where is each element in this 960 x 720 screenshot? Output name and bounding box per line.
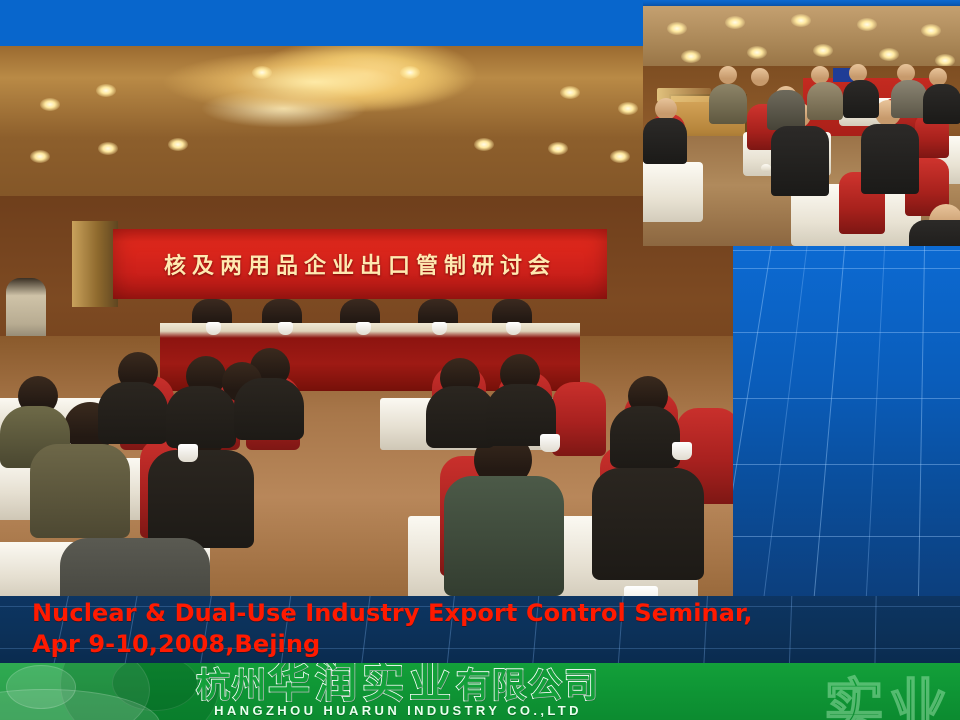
caption-text: Nuclear & Dual-Use Industry Export Contr…	[32, 598, 753, 660]
company-logo: 杭州华润实业有限公司 HANGZHOU HUARUN INDUSTRY CO.,…	[196, 665, 600, 719]
company-name-cn-main: 华润实业	[268, 663, 456, 707]
red-banner: 核及两用品企业出口管制研讨会	[113, 229, 607, 299]
inset-attendees-photo	[643, 6, 960, 246]
footer-logo-band: 实业 杭州华润实业有限公司 HANGZHOU HUARUN INDUSTRY C…	[0, 663, 960, 720]
company-name-cn: 杭州华润实业有限公司	[196, 665, 600, 704]
company-name-cn-city: 杭州	[196, 666, 268, 706]
caption-line-1: Nuclear & Dual-Use Industry Export Contr…	[32, 598, 753, 629]
company-name-en: HANGZHOU HUARUN INDUSTRY CO.,LTD	[196, 703, 600, 719]
footer-watermark: 实业	[824, 663, 952, 720]
banner-text: 核及两用品企业出口管制研讨会	[164, 248, 556, 280]
blue-globe-panel	[733, 246, 960, 596]
company-name-cn-suffix: 有限公司	[456, 666, 600, 706]
top-blue-bar	[0, 0, 643, 46]
caption-line-2: Apr 9-10,2008,Bejing	[32, 629, 753, 660]
door-frame	[72, 221, 118, 307]
main-conference-photo: 核及两用品企业出口管制研讨会	[0, 46, 733, 596]
slide-canvas: 核及两用品企业出口管制研讨会	[0, 0, 960, 720]
caption-band: Nuclear & Dual-Use Industry Export Contr…	[0, 596, 960, 663]
